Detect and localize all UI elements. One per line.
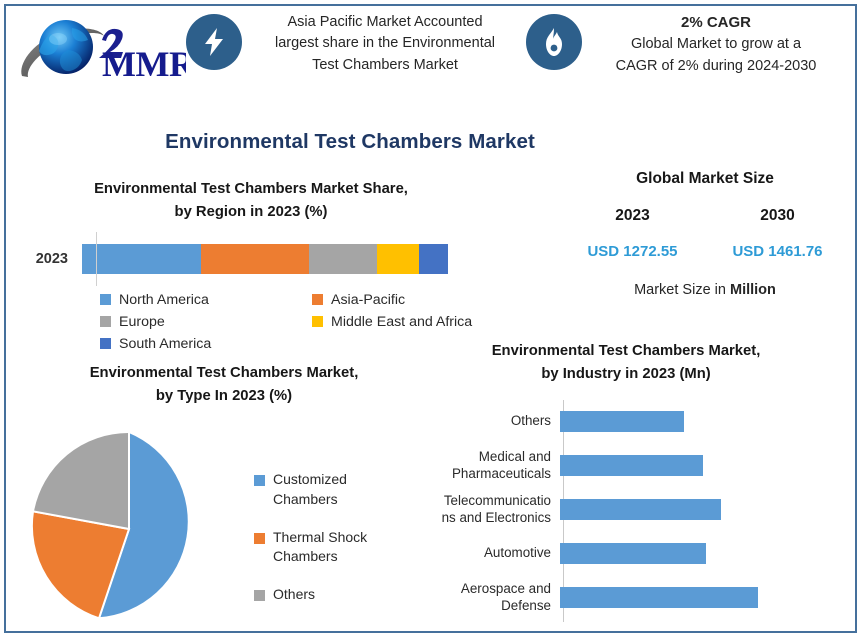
industry-plot-area: Others Medical andPharmaceuticals Teleco… bbox=[406, 400, 854, 622]
legend-swatch-icon bbox=[100, 294, 111, 305]
type-chart-title-line2: by Type In 2023 (%) bbox=[14, 385, 434, 408]
svg-text:MMR: MMR bbox=[102, 44, 186, 84]
type-legend: CustomizedChambers Thermal ShockChambers… bbox=[236, 426, 367, 623]
industry-bar-aerospace-and-defense bbox=[560, 587, 758, 608]
region-share-chart: Environmental Test Chambers Market Share… bbox=[14, 178, 514, 358]
industry-row-automotive: Automotive bbox=[406, 532, 854, 576]
industry-bar-automotive bbox=[560, 543, 706, 564]
cagr-line-2: Global Market to grow at a bbox=[594, 34, 838, 55]
type-chart-body: CustomizedChambers Thermal ShockChambers… bbox=[14, 426, 454, 636]
legend-swatch-icon bbox=[312, 316, 323, 327]
industry-share-chart: Environmental Test Chambers Market, by I… bbox=[406, 340, 854, 622]
header-highlight-region: Asia Pacific Market Accounted largest sh… bbox=[186, 8, 526, 76]
global-market-size-values: USD 1272.55 USD 1461.76 bbox=[560, 243, 850, 260]
type-legend-label: Thermal ShockChambers bbox=[273, 528, 367, 568]
lightning-bolt-icon bbox=[186, 14, 242, 70]
industry-chart-title-line1: Environmental Test Chambers Market, bbox=[406, 340, 846, 363]
type-legend-label: Others bbox=[273, 585, 315, 605]
region-chart-title: Environmental Test Chambers Market Share… bbox=[14, 178, 488, 224]
type-legend-item-thermal-shock-chambers: Thermal ShockChambers bbox=[254, 528, 367, 568]
header-highlight-region-text: Asia Pacific Market Accounted largest sh… bbox=[242, 8, 516, 76]
pie-slice-others bbox=[33, 432, 129, 529]
legend-swatch-icon bbox=[254, 533, 265, 544]
header-line-2: largest share in the Environmental bbox=[254, 33, 516, 54]
region-stacked-bar bbox=[82, 244, 448, 274]
region-legend-item-asia-pacific: Asia-Pacific bbox=[312, 292, 508, 308]
global-market-size-years: 2023 2030 bbox=[560, 207, 850, 225]
type-legend-item-customized-chambers: CustomizedChambers bbox=[254, 470, 367, 510]
industry-row-aerospace-and-defense: Aerospace andDefense bbox=[406, 576, 854, 620]
industry-chart-title-line2: by Industry in 2023 (Mn) bbox=[406, 363, 846, 386]
region-category-label: 2023 bbox=[14, 251, 82, 267]
type-legend-item-others: Others bbox=[254, 585, 367, 605]
legend-swatch-icon bbox=[100, 338, 111, 349]
type-chart-title: Environmental Test Chambers Market, by T… bbox=[14, 362, 434, 408]
industry-row-label: Medical andPharmaceuticals bbox=[406, 449, 558, 483]
lightning-bolt-glyph bbox=[199, 26, 229, 58]
type-share-chart: Environmental Test Chambers Market, by T… bbox=[14, 362, 454, 636]
type-pie bbox=[26, 426, 236, 636]
header-highlight-cagr-text: 2% CAGR Global Market to grow at a CAGR … bbox=[582, 8, 838, 77]
global-market-size-panel: Global Market Size 2023 2030 USD 1272.55… bbox=[560, 170, 850, 298]
industry-row-label: Telecommunications and Electronics bbox=[406, 493, 558, 527]
region-legend-item-europe: Europe bbox=[100, 314, 312, 330]
region-segment-south-america bbox=[419, 244, 448, 274]
cagr-line-3: CAGR of 2% during 2024-2030 bbox=[594, 56, 838, 77]
legend-swatch-icon bbox=[254, 590, 265, 601]
flame-icon bbox=[526, 14, 582, 70]
gms-year-2023: 2023 bbox=[563, 207, 703, 225]
industry-row-medical-and-pharmaceuticals: Medical andPharmaceuticals bbox=[406, 444, 854, 488]
industry-row-label: Others bbox=[406, 413, 558, 430]
industry-bar-telecommunications-and-electronics bbox=[560, 499, 721, 520]
industry-row-telecommunications-and-electronics: Telecommunications and Electronics bbox=[406, 488, 854, 532]
region-segment-europe bbox=[309, 244, 377, 274]
header-line-1: Asia Pacific Market Accounted bbox=[254, 12, 516, 33]
globe-orbit-icon: MMR bbox=[16, 14, 186, 96]
cagr-value: 2% CAGR bbox=[594, 12, 838, 34]
industry-row-label: Automotive bbox=[406, 545, 558, 562]
region-legend-label: North America bbox=[119, 292, 209, 308]
header-highlight-cagr: 2% CAGR Global Market to grow at a CAGR … bbox=[526, 8, 846, 77]
legend-swatch-icon bbox=[312, 294, 323, 305]
mmr-logo: MMR bbox=[8, 8, 186, 103]
region-legend-label: Asia-Pacific bbox=[331, 292, 405, 308]
industry-bar-medical-and-pharmaceuticals bbox=[560, 455, 703, 476]
industry-row-others: Others bbox=[406, 400, 854, 444]
legend-swatch-icon bbox=[100, 316, 111, 327]
industry-row-label: Aerospace andDefense bbox=[406, 581, 558, 615]
region-legend-item-south-america: South America bbox=[100, 336, 312, 352]
gms-value-2030: USD 1461.76 bbox=[708, 243, 848, 260]
gms-unit-prefix: Market Size in bbox=[634, 282, 730, 298]
region-chart-title-line1: Environmental Test Chambers Market Share… bbox=[14, 178, 488, 201]
region-bar-area: 2023 bbox=[14, 238, 514, 280]
industry-chart-title: Environmental Test Chambers Market, by I… bbox=[406, 340, 846, 386]
region-segment-north-america bbox=[82, 244, 201, 274]
global-market-size-title: Global Market Size bbox=[560, 170, 850, 188]
legend-swatch-icon bbox=[254, 475, 265, 486]
gms-year-2030: 2030 bbox=[708, 207, 848, 225]
page-title: Environmental Test Chambers Market bbox=[0, 130, 700, 154]
region-segment-middle-east-africa bbox=[377, 244, 419, 274]
flame-glyph bbox=[540, 26, 568, 58]
region-axis-line bbox=[96, 232, 97, 286]
region-legend-label: South America bbox=[119, 336, 211, 352]
gms-unit-bold: Million bbox=[730, 282, 776, 298]
industry-bar-others bbox=[560, 411, 684, 432]
region-legend-item-north-america: North America bbox=[100, 292, 312, 308]
header-bar: MMR Asia Pacific Market Accounted larges… bbox=[8, 8, 853, 111]
region-legend-label: Europe bbox=[119, 314, 165, 330]
region-segment-asia-pacific bbox=[201, 244, 309, 274]
region-legend-item-middle-east-africa: Middle East and Africa bbox=[312, 314, 508, 330]
gms-value-2023: USD 1272.55 bbox=[563, 243, 703, 260]
type-legend-label: CustomizedChambers bbox=[273, 470, 347, 510]
type-chart-title-line1: Environmental Test Chambers Market, bbox=[14, 362, 434, 385]
pie-chart-graphic bbox=[26, 426, 236, 636]
infographic-root: MMR Asia Pacific Market Accounted larges… bbox=[0, 0, 861, 637]
region-legend-label: Middle East and Africa bbox=[331, 314, 472, 330]
header-line-3: Test Chambers Market bbox=[254, 55, 516, 76]
global-market-size-unit-note: Market Size in Million bbox=[560, 282, 850, 298]
region-chart-title-line2: by Region in 2023 (%) bbox=[14, 201, 488, 224]
